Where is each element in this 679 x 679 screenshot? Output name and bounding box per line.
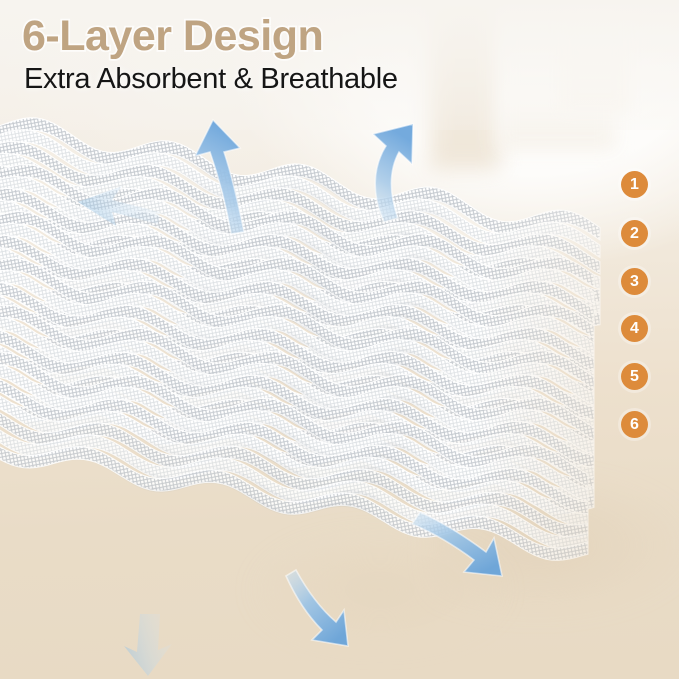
layer-badge-2: 2 — [621, 220, 648, 247]
airflow-arrow-down-right-icon — [412, 512, 502, 576]
airflow-arrow-up-left-icon — [195, 120, 244, 234]
airflow-arrow-left-icon — [78, 186, 160, 226]
product-infographic: 6-Layer Design Extra Absorbent & Breatha… — [0, 0, 679, 679]
airflow-arrow-group — [0, 0, 679, 679]
headline-block: 6-Layer Design Extra Absorbent & Breatha… — [22, 14, 398, 96]
layer-badge-4: 4 — [621, 315, 648, 342]
layer-badge-5: 5 — [621, 363, 648, 390]
layer-badge-3: 3 — [621, 268, 648, 295]
airflow-arrow-down-left-icon — [124, 614, 172, 676]
page-subtitle: Extra Absorbent & Breathable — [24, 63, 398, 96]
page-title: 6-Layer Design — [22, 14, 398, 59]
airflow-arrow-up-right-icon — [373, 124, 413, 222]
airflow-arrow-down-icon — [286, 570, 348, 646]
layer-badge-6: 6 — [621, 411, 648, 438]
layer-badge-1: 1 — [621, 171, 648, 198]
